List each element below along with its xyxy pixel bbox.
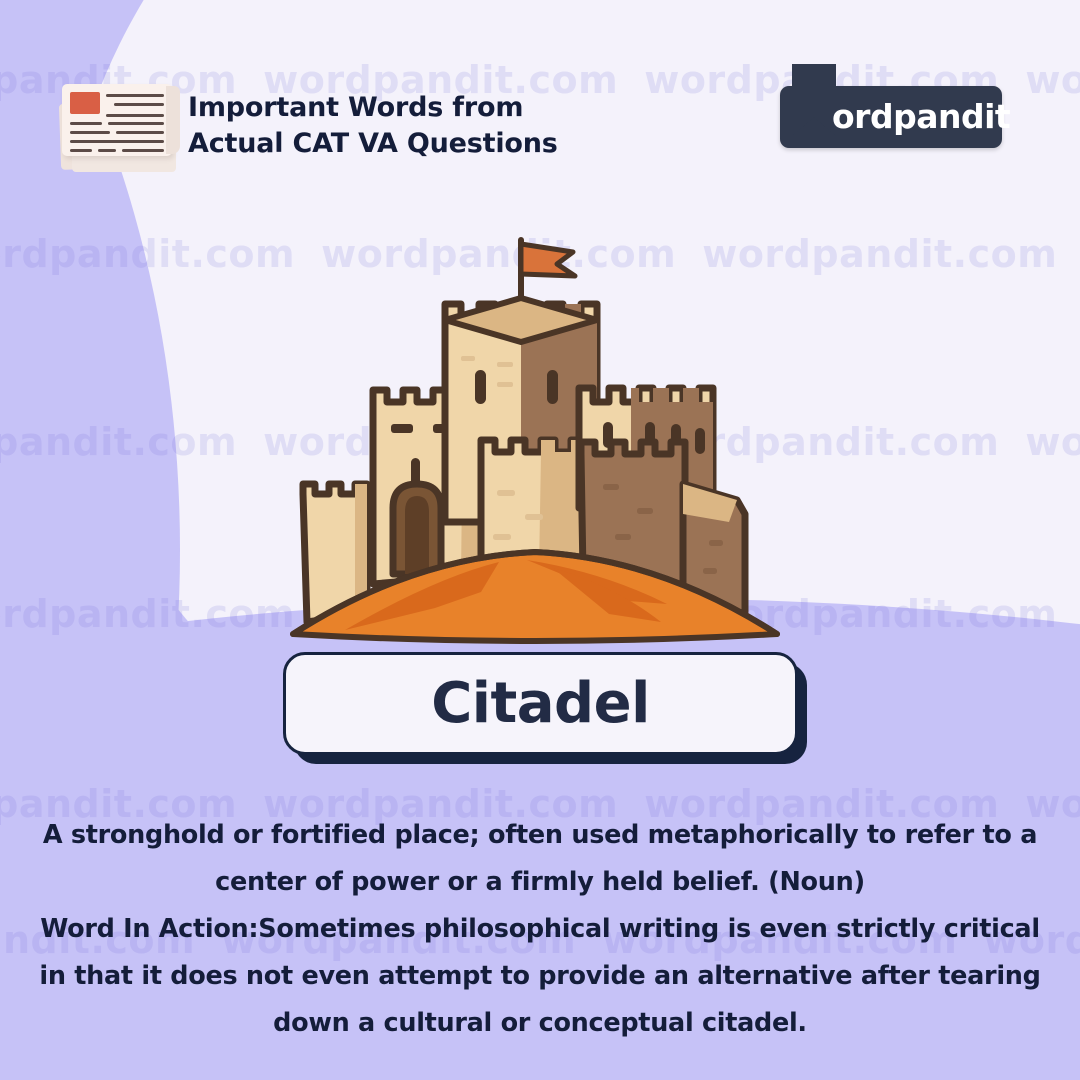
newspaper-icon [50, 76, 182, 176]
wordpandit-logo[interactable]: ordpandit [780, 86, 1002, 148]
bookmark-icon [792, 64, 836, 136]
definition-text: A stronghold or fortified place; often u… [28, 812, 1052, 906]
page-title-line-1: Important Words from [188, 92, 523, 123]
newspaper-text-line [116, 131, 164, 134]
usage-text: Word In Action:Sometimes philosophical w… [28, 906, 1052, 1047]
page-title: Important Words from Actual CAT VA Quest… [188, 90, 558, 162]
newspaper-text-line [114, 103, 164, 106]
newspaper-text-line [98, 149, 116, 152]
newspaper-text-line [70, 131, 110, 134]
newspaper-text-line [70, 122, 102, 125]
newspaper-text-line [70, 140, 164, 143]
newspaper-text-line [106, 94, 164, 97]
newspaper-photo-block [70, 92, 100, 114]
newspaper-text-line [108, 122, 164, 125]
word-card-surface[interactable]: Citadel [283, 652, 798, 755]
newspaper-text-line [70, 149, 92, 152]
word-label: Citadel [431, 671, 650, 736]
newspaper-front-page [62, 84, 172, 156]
newspaper-text-line [122, 149, 164, 152]
page-title-line-2: Actual CAT VA Questions [188, 126, 558, 162]
word-card[interactable]: Citadel [283, 652, 811, 764]
header: Important Words from Actual CAT VA Quest… [0, 0, 1080, 190]
castle-citadel-illustration [285, 222, 785, 647]
word-description: A stronghold or fortified place; often u… [28, 812, 1052, 1047]
logo-text: ordpandit [832, 86, 1010, 148]
poster-canvas: wordpandit.comwordpandit.comwordpandit.c… [0, 0, 1080, 1080]
newspaper-text-line [106, 114, 164, 117]
